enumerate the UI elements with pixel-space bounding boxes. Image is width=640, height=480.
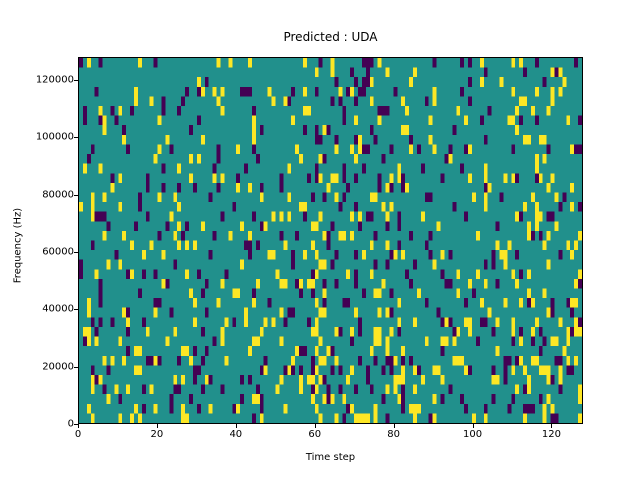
page-title: Predicted : UDA: [78, 30, 583, 44]
x-axis-label: Time step: [78, 452, 583, 463]
y-tick-label: 40000: [0, 304, 74, 315]
x-tick-mark: [551, 424, 552, 428]
x-tick-label: 100: [433, 429, 513, 440]
x-tick-mark: [236, 424, 237, 428]
x-tick-mark: [157, 424, 158, 428]
x-tick-label: 60: [275, 429, 355, 440]
y-tick-label: 80000: [0, 189, 74, 200]
x-tick-mark: [473, 424, 474, 428]
heatmap-plot-area: [78, 57, 583, 424]
x-tick-mark: [315, 424, 316, 428]
y-tick-label: 120000: [0, 74, 74, 85]
x-tick-label: 80: [354, 429, 434, 440]
matplotlib-figure: Predicted : UDA Frequency (Hz) Time step…: [0, 0, 640, 480]
y-tick-label: 100000: [0, 132, 74, 143]
heatmap-image: [79, 58, 582, 423]
x-tick-mark: [394, 424, 395, 428]
y-tick-label: 60000: [0, 246, 74, 257]
x-tick-label: 20: [117, 429, 197, 440]
x-tick-mark: [78, 424, 79, 428]
y-tick-label: 0: [0, 419, 74, 430]
y-tick-label: 20000: [0, 361, 74, 372]
x-tick-label: 0: [38, 429, 118, 440]
x-tick-label: 40: [196, 429, 276, 440]
x-tick-label: 120: [511, 429, 591, 440]
